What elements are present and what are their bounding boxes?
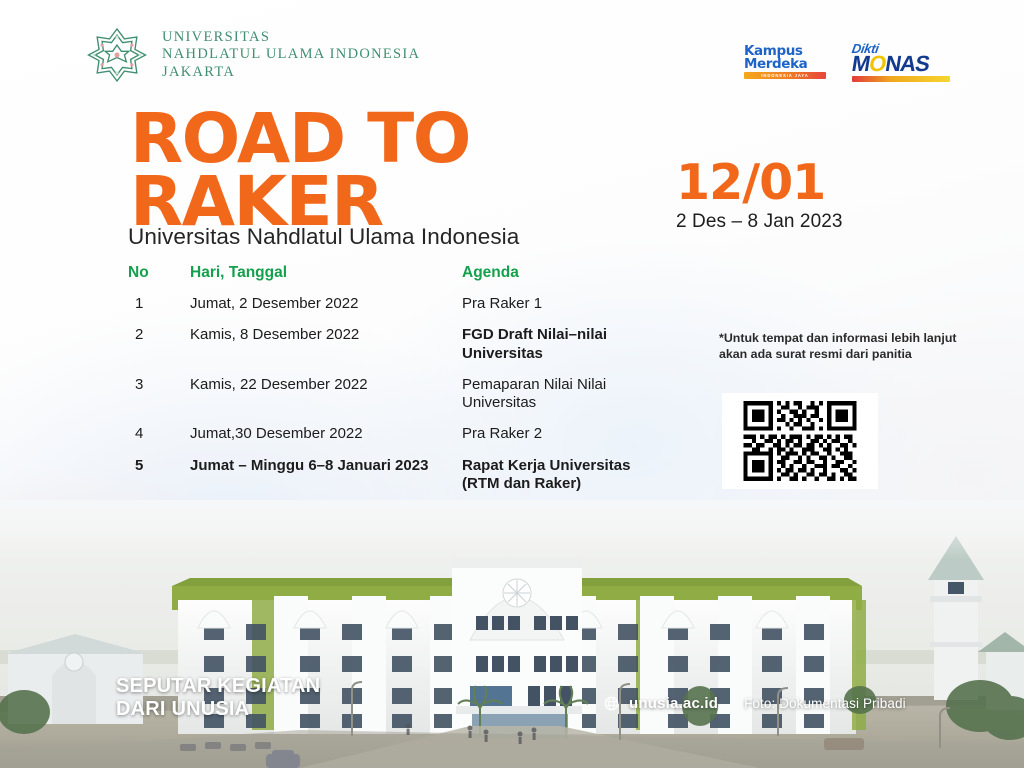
table-row: 5 Jumat – Minggu 6–8 Januari 2023 Rapat … [128,457,648,494]
row-agenda: FGD Draft Nilai–nilai Universitas [462,326,648,363]
table-row: 3 Kamis, 22 Desember 2022 Pemaparan Nila… [128,376,648,413]
photo-credit: Foto: Dokumentasi Pribadi [744,696,906,711]
schedule-table: No Hari, Tanggal Agenda 1 Jumat, 2 Desem… [128,264,648,506]
university-name-line3: JAKARTA [162,64,420,81]
table-row: 1 Jumat, 2 Desember 2022 Pra Raker 1 [128,295,648,313]
row-no: 4 [128,425,190,443]
page-title: ROAD TO RAKER [130,108,470,235]
qr-code[interactable] [722,393,878,489]
university-name-line1: UNIVERSITAS [162,29,420,46]
campus-building-photo [0,500,1024,768]
row-day: Jumat, 2 Desember 2022 [190,295,462,313]
row-day: Kamis, 8 Desember 2022 [190,326,462,363]
dikti-monas-bar [852,76,950,82]
date-block: 12/01 2 Des – 8 Jan 2023 [676,158,843,233]
kampus-merdeka-tagline: INDONESIA JAYA [744,72,826,79]
footer-meta: unusia.ac.id Foto: Dokumentasi Pribadi [604,695,906,712]
footer-tagline-line2: DARI UNUSIA [116,698,320,720]
column-header-agenda: Agenda [462,264,648,282]
kampus-merdeka-line2: Merdeka [744,58,826,71]
website-url[interactable]: unusia.ac.id [629,695,718,712]
poster-canvas: UNIVERSITAS NAHDLATUL ULAMA INDONESIA JA… [0,0,1024,768]
row-no: 5 [128,457,190,494]
row-no: 1 [128,295,190,313]
column-header-no: No [128,264,190,282]
table-row: 2 Kamis, 8 Desember 2022 FGD Draft Nilai… [128,326,648,363]
page-subtitle: Universitas Nahdlatul Ulama Indonesia [128,224,519,250]
kampus-merdeka-logo: Kampus Merdeka INDONESIA JAYA [744,45,826,80]
partner-logos: Kampus Merdeka INDONESIA JAYA Dikti MONA… [744,42,950,82]
row-no: 3 [128,376,190,413]
dikti-monas-logo: Dikti MONAS [852,42,950,82]
row-agenda: Rapat Kerja Universitas (RTM dan Raker) [462,457,648,494]
row-agenda: Pemaparan Nilai Nilai Universitas [462,376,648,413]
date-headline: 12/01 [676,158,843,207]
table-row: 4 Jumat,30 Desember 2022 Pra Raker 2 [128,425,648,443]
globe-icon [604,696,619,711]
kampus-merdeka-bar: INDONESIA JAYA [744,72,826,79]
row-agenda: Pra Raker 2 [462,425,648,443]
footer-tagline: SEPUTAR KEGIATAN DARI UNUSIA [116,675,320,720]
octagram-islamic-pattern-icon [86,26,148,84]
row-day: Jumat,30 Desember 2022 [190,425,462,443]
info-note: *Untuk tempat dan informasi lebih lanjut… [719,330,969,363]
university-name-line2: NAHDLATUL ULAMA INDONESIA [162,46,420,63]
campus-building-illustration [0,500,1024,768]
row-day: Jumat – Minggu 6–8 Januari 2023 [190,457,462,494]
monas-label: MONAS [850,53,951,75]
university-logo-lockup: UNIVERSITAS NAHDLATUL ULAMA INDONESIA JA… [86,26,420,84]
university-name: UNIVERSITAS NAHDLATUL ULAMA INDONESIA JA… [162,29,420,80]
row-no: 2 [128,326,190,363]
date-range: 2 Des – 8 Jan 2023 [676,211,843,233]
table-header-row: No Hari, Tanggal Agenda [128,264,648,282]
row-day: Kamis, 22 Desember 2022 [190,376,462,413]
poster-header: UNIVERSITAS NAHDLATUL ULAMA INDONESIA JA… [0,18,1024,88]
footer-tagline-line1: SEPUTAR KEGIATAN [116,675,320,697]
monas-part-nas: NAS [884,51,931,76]
row-agenda: Pra Raker 1 [462,295,648,313]
qr-code-graphic [726,397,874,485]
column-header-day: Hari, Tanggal [190,264,462,282]
